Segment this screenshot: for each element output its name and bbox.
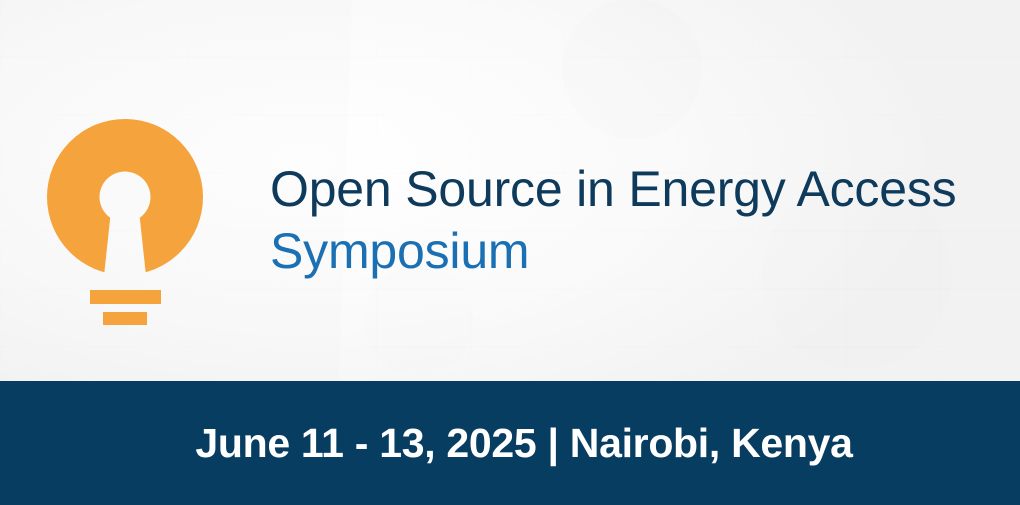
banner-title-primary: Open Source in Energy Access — [270, 158, 1000, 220]
event-details-bar: June 11 - 13, 2025 | Nairobi, Kenya — [0, 381, 1020, 505]
banner-header-area: Open Source in Energy Access Symposium — [0, 0, 1020, 381]
banner-title-block: Open Source in Energy Access Symposium — [270, 158, 1000, 282]
banner-title-secondary: Symposium — [270, 220, 1000, 282]
lightbulb-keyhole-logo-icon — [40, 112, 215, 337]
event-banner: Open Source in Energy Access Symposium J… — [0, 0, 1020, 505]
event-date-location: June 11 - 13, 2025 | Nairobi, Kenya — [167, 420, 852, 467]
